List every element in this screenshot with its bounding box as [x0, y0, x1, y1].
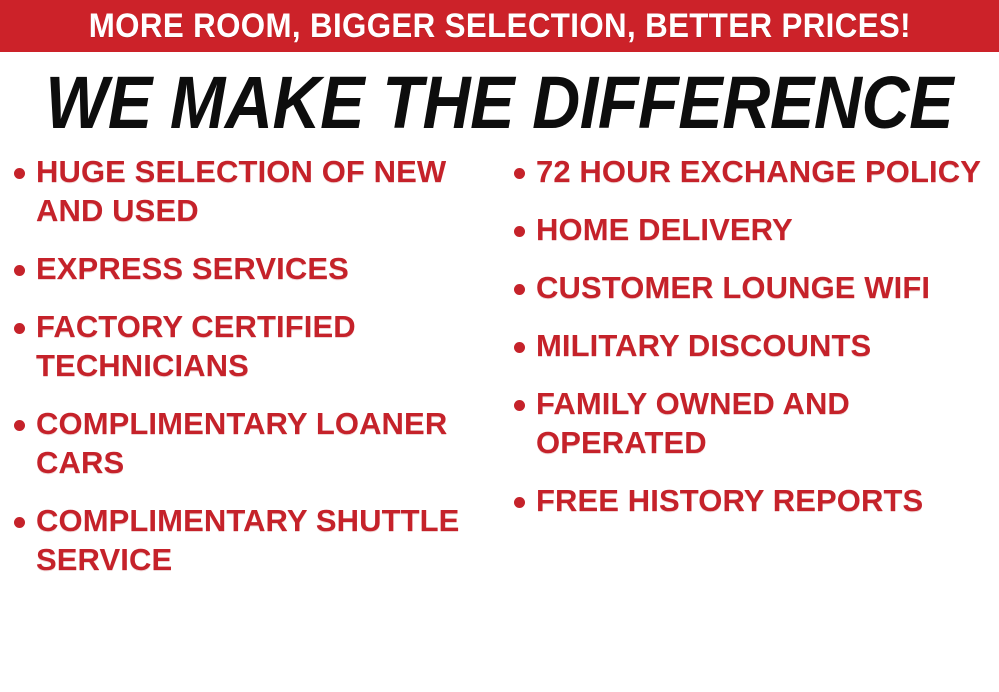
list-item-label: 72 HOUR EXCHANGE POLICY	[536, 152, 981, 191]
list-item-label: HOME DELIVERY	[536, 210, 793, 249]
list-item-label: COMPLIMENTARY LOANER CARS	[36, 404, 504, 482]
list-item: COMPLIMENTARY LOANER CARS	[14, 404, 504, 482]
bullet-dot-icon	[514, 284, 525, 295]
bullet-dot-icon	[514, 226, 525, 237]
list-item-label: CUSTOMER LOUNGE WIFI	[536, 268, 930, 307]
list-item-label: FACTORY CERTIFIED TECHNICIANS	[36, 307, 504, 385]
features-column-right: 72 HOUR EXCHANGE POLICY HOME DELIVERY CU…	[514, 152, 999, 539]
bullet-dot-icon	[14, 265, 25, 276]
bullet-dot-icon	[14, 323, 25, 334]
list-item: COMPLIMENTARY SHUTTLE SERVICE	[14, 501, 504, 579]
list-item: MILITARY DISCOUNTS	[514, 326, 999, 365]
list-item: HUGE SELECTION OF NEW AND USED	[14, 152, 504, 230]
bullet-dot-icon	[514, 168, 525, 179]
features-column-left: HUGE SELECTION OF NEW AND USED EXPRESS S…	[14, 152, 504, 598]
list-item-label: HUGE SELECTION OF NEW AND USED	[36, 152, 504, 230]
list-item: FREE HISTORY REPORTS	[514, 481, 999, 520]
top-banner: MORE ROOM, BIGGER SELECTION, BETTER PRIC…	[0, 0, 999, 52]
bullet-dot-icon	[514, 342, 525, 353]
list-item: 72 HOUR EXCHANGE POLICY	[514, 152, 999, 191]
features-columns: HUGE SELECTION OF NEW AND USED EXPRESS S…	[0, 152, 999, 692]
banner-headline-text: MORE ROOM, BIGGER SELECTION, BETTER PRIC…	[88, 9, 910, 43]
bullet-dot-icon	[514, 400, 525, 411]
list-item-label: FREE HISTORY REPORTS	[536, 481, 923, 520]
list-item: HOME DELIVERY	[514, 210, 999, 249]
list-item-label: FAMILY OWNED AND OPERATED	[536, 384, 999, 462]
bullet-dot-icon	[14, 517, 25, 528]
bullet-dot-icon	[14, 168, 25, 179]
list-item: EXPRESS SERVICES	[14, 249, 504, 288]
list-item-label: MILITARY DISCOUNTS	[536, 326, 871, 365]
bullet-dot-icon	[514, 497, 525, 508]
headline-container: WE MAKE THE DIFFERENCE	[0, 62, 999, 144]
bullet-dot-icon	[14, 420, 25, 431]
promo-poster: MORE ROOM, BIGGER SELECTION, BETTER PRIC…	[0, 0, 999, 692]
page-title: WE MAKE THE DIFFERENCE	[46, 66, 954, 140]
list-item-label: EXPRESS SERVICES	[36, 249, 349, 288]
list-item: FAMILY OWNED AND OPERATED	[514, 384, 999, 462]
list-item: CUSTOMER LOUNGE WIFI	[514, 268, 999, 307]
list-item: FACTORY CERTIFIED TECHNICIANS	[14, 307, 504, 385]
list-item-label: COMPLIMENTARY SHUTTLE SERVICE	[36, 501, 504, 579]
